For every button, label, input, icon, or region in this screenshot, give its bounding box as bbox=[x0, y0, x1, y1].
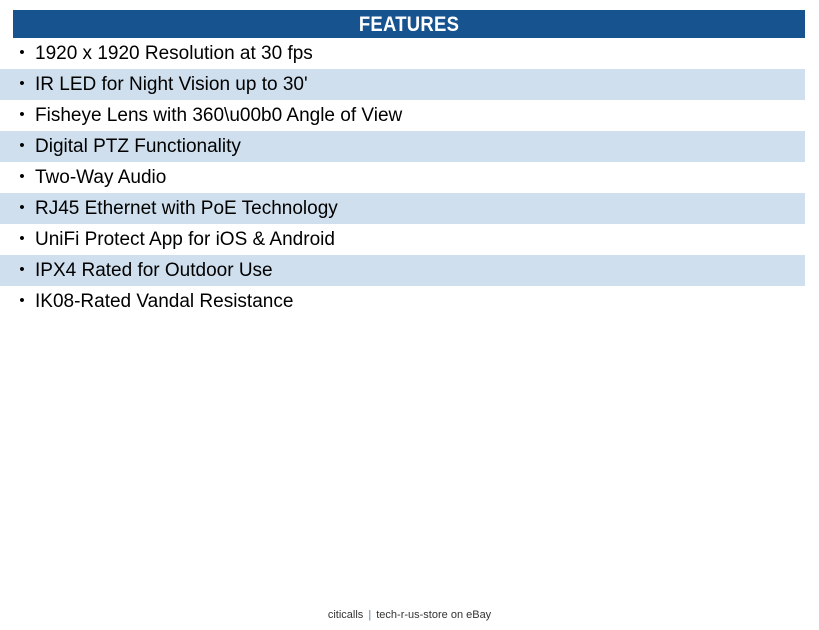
footer-attribution: citicalls | tech-r-us-store on eBay bbox=[0, 608, 819, 622]
list-item: • RJ45 Ethernet with PoE Technology bbox=[0, 193, 805, 224]
feature-label: IPX4 Rated for Outdoor Use bbox=[30, 261, 273, 280]
feature-label: IK08-Rated Vandal Resistance bbox=[30, 292, 293, 311]
list-item: • Two-Way Audio bbox=[0, 162, 805, 193]
bullet-icon: • bbox=[14, 293, 30, 308]
list-item: • Fisheye Lens with 360\u00b0 Angle of V… bbox=[0, 100, 805, 131]
footer-separator: | bbox=[366, 609, 373, 621]
feature-label: 1920 x 1920 Resolution at 30 fps bbox=[30, 44, 313, 63]
feature-label: Two-Way Audio bbox=[30, 168, 166, 187]
list-item: • IK08-Rated Vandal Resistance bbox=[0, 286, 805, 317]
bullet-icon: • bbox=[14, 76, 30, 91]
page-title: FEATURES bbox=[359, 14, 459, 35]
footer-listing-source: tech-r-us-store on eBay bbox=[376, 609, 491, 621]
feature-label: IR LED for Night Vision up to 30' bbox=[30, 75, 308, 94]
feature-label: Fisheye Lens with 360\u00b0 Angle of Vie… bbox=[30, 106, 402, 125]
bullet-icon: • bbox=[14, 138, 30, 153]
feature-label: RJ45 Ethernet with PoE Technology bbox=[30, 199, 338, 218]
list-item: • IR LED for Night Vision up to 30' bbox=[0, 69, 805, 100]
feature-label: Digital PTZ Functionality bbox=[30, 137, 241, 156]
list-item: • Digital PTZ Functionality bbox=[0, 131, 805, 162]
list-item: • UniFi Protect App for iOS & Android bbox=[0, 224, 805, 255]
feature-label: UniFi Protect App for iOS & Android bbox=[30, 230, 335, 249]
list-item: • IPX4 Rated for Outdoor Use bbox=[0, 255, 805, 286]
bullet-icon: • bbox=[14, 169, 30, 184]
list-item: • 1920 x 1920 Resolution at 30 fps bbox=[0, 38, 805, 69]
features-header-bar: FEATURES bbox=[13, 10, 805, 38]
feature-panel: FEATURES • 1920 x 1920 Resolution at 30 … bbox=[0, 0, 819, 630]
bullet-icon: • bbox=[14, 107, 30, 122]
feature-list: • 1920 x 1920 Resolution at 30 fps • IR … bbox=[0, 38, 805, 317]
bullet-icon: • bbox=[14, 231, 30, 246]
bullet-icon: • bbox=[14, 262, 30, 277]
bullet-icon: • bbox=[14, 45, 30, 60]
bullet-icon: • bbox=[14, 200, 30, 215]
footer-store-name: citicalls bbox=[328, 609, 363, 621]
